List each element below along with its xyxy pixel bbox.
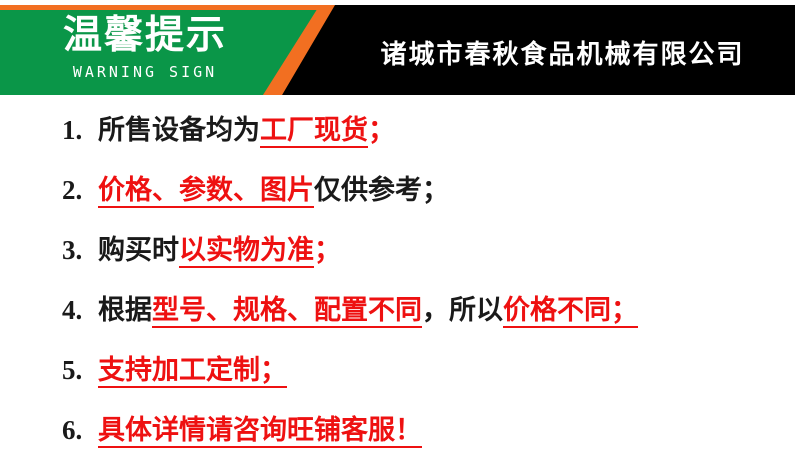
notice-text-segment: 仅供参考； [314, 175, 449, 205]
notice-item-number: 4. [62, 280, 98, 340]
notice-text-segment: 根据 [98, 295, 152, 325]
notice-item-text: 价格、参数、图片仅供参考； [98, 160, 449, 220]
notice-text-segment: 所售设备均为 [98, 115, 260, 145]
notice-text-segment: 工厂现货 [260, 115, 368, 148]
notice-text-segment: 型号、规格、配置不同 [152, 295, 422, 328]
notice-text-segment: 支持加工定制； [98, 355, 287, 388]
notice-list: 1.所售设备均为工厂现货；2.价格、参数、图片仅供参考；3.购买时以实物为准；4… [0, 100, 800, 470]
notice-item: 1.所售设备均为工厂现货； [0, 100, 800, 160]
notice-item-text: 支持加工定制； [98, 340, 287, 400]
notice-text-segment: 价格、参数、图片 [98, 175, 314, 208]
notice-item-number: 1. [62, 100, 98, 160]
company-name: 诸城市春秋食品机械有限公司 [330, 10, 795, 95]
header-banner: 温馨提示 WARNING SIGN 诸城市春秋食品机械有限公司 [0, 5, 795, 95]
notice-item-text: 具体详情请咨询旺铺客服！ [98, 400, 422, 460]
notice-item: 5.支持加工定制； [0, 340, 800, 400]
notice-item-text: 所售设备均为工厂现货； [98, 100, 395, 160]
banner-subtitle: WARNING SIGN [0, 62, 290, 82]
notice-text-segment: ； [314, 235, 341, 265]
warning-sign-page: 温馨提示 WARNING SIGN 诸城市春秋食品机械有限公司 1.所售设备均为… [0, 0, 800, 470]
notice-text-segment: 购买时 [98, 235, 179, 265]
notice-item-number: 3. [62, 220, 98, 280]
notice-item-number: 6. [62, 400, 98, 460]
notice-text-segment: 价格不同； [503, 295, 638, 328]
notice-text-segment: 以实物为准 [179, 235, 314, 268]
notice-item: 2.价格、参数、图片仅供参考； [0, 160, 800, 220]
notice-item-text: 根据型号、规格、配置不同，所以价格不同； [98, 280, 638, 340]
notice-item-number: 2. [62, 160, 98, 220]
notice-text-segment: ； [368, 115, 395, 145]
notice-text-segment: ，所以 [422, 295, 503, 325]
notice-item: 4.根据型号、规格、配置不同，所以价格不同； [0, 280, 800, 340]
banner-title-block: 温馨提示 WARNING SIGN [0, 10, 290, 95]
notice-item: 6.具体详情请咨询旺铺客服！ [0, 400, 800, 460]
notice-item-text: 购买时以实物为准； [98, 220, 341, 280]
notice-item: 3.购买时以实物为准； [0, 220, 800, 280]
banner-title: 温馨提示 [0, 10, 290, 62]
notice-item-number: 5. [62, 340, 98, 400]
notice-text-segment: 具体详情请咨询旺铺客服！ [98, 415, 422, 448]
